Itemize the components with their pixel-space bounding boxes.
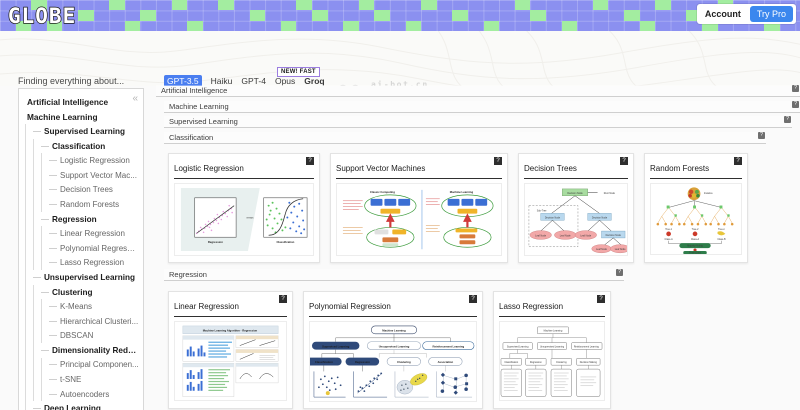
tree-elbow	[49, 321, 57, 322]
sidebar-item-label: Clustering	[52, 288, 93, 297]
svg-text:Tree-1: Tree-1	[665, 228, 672, 231]
sidebar-item-label: Decision Trees	[60, 185, 113, 194]
card-logistic-regression[interactable]: Logistic Regression ?	[168, 153, 320, 263]
svg-text:Decision Making: Decision Making	[580, 362, 598, 364]
sidebar-item-deep-learning[interactable]: Deep Learning	[25, 401, 139, 410]
main-content: Artificial Intelligence ? Machine Learni…	[156, 85, 800, 410]
svg-text:Final-Class: Final-Class	[689, 253, 701, 255]
svg-text:Regression: Regression	[355, 360, 370, 364]
thumb-label-mid: versus	[246, 216, 254, 219]
svg-text:Instance: Instance	[704, 192, 714, 195]
section-title: Regression	[164, 270, 207, 279]
help-icon[interactable]: ?	[758, 132, 765, 139]
svg-text:Classification: Classification	[504, 361, 519, 364]
help-icon[interactable]: ?	[597, 295, 605, 303]
card-title: Decision Trees	[524, 164, 577, 173]
card-polynomial-regression[interactable]: Polynomial Regression ? Machine Learning	[303, 291, 483, 409]
sidebar-item-label: Machine Learning	[27, 112, 98, 122]
tree-guide	[33, 343, 34, 358]
tree-guide	[25, 256, 26, 271]
tree-guide	[33, 314, 34, 329]
tree-elbow	[33, 277, 41, 278]
sidebar-item-label: Artificial Intelligence	[27, 97, 108, 107]
sidebar-item-autoencoders[interactable]: Autoencoders	[25, 387, 139, 402]
tree-guide	[25, 343, 26, 358]
tree-guide	[41, 183, 42, 198]
finding-label: Finding everything about...	[18, 76, 124, 86]
tree-guide	[25, 358, 26, 373]
tree-elbow	[49, 306, 57, 307]
thumb-label-ml: Machine Learning	[450, 190, 474, 194]
svg-text:Leaf Node: Leaf Node	[560, 235, 572, 237]
section-title: Machine Learning	[164, 102, 229, 111]
sidebar-item-label: Supervised Learning	[44, 127, 125, 136]
tree-elbow	[49, 335, 57, 336]
tree-guide	[25, 226, 26, 241]
tree-elbow	[49, 160, 57, 161]
card-title: Linear Regression	[174, 302, 239, 311]
tree-guide	[41, 329, 42, 344]
account-controls: Account Try Pro	[697, 4, 796, 24]
app-logo[interactable]: GLOBE	[8, 4, 76, 28]
polynomial-regression-thumb: Machine Learning Supervised Learning Uns…	[309, 321, 477, 402]
sidebar-item-random-forests[interactable]: Random Forests	[25, 197, 139, 212]
section-title: Supervised Learning	[164, 117, 238, 126]
decision-tree-thumb: Decision Node Root Node Sub-Tree Decisio…	[524, 183, 628, 256]
collapse-sidebar-icon[interactable]: «	[132, 93, 138, 104]
svg-text:Decision Node: Decision Node	[567, 193, 583, 195]
tree-elbow	[49, 394, 57, 395]
tree-elbow	[33, 408, 41, 409]
tree-guide	[33, 153, 34, 168]
svg-text:Decision Node: Decision Node	[545, 217, 561, 219]
sidebar-item-label: Linear Regression	[60, 229, 125, 238]
tree-elbow	[49, 189, 57, 190]
card-title: Support Vector Machines	[336, 164, 425, 173]
tree-guide	[33, 387, 34, 402]
logistic-regression-thumb: Regression versus	[174, 183, 314, 256]
account-button[interactable]: Account	[700, 7, 746, 21]
tree-guide	[41, 168, 42, 183]
thumb-label-left: Regression	[208, 240, 223, 244]
sidebar-item-label: K-Means	[60, 302, 92, 311]
tree-guide	[33, 358, 34, 373]
tree-elbow	[41, 146, 49, 147]
sidebar-item-artificial-intelligence[interactable]: Artificial Intelligence	[25, 95, 139, 110]
section-header-regression[interactable]: Regression ?	[164, 269, 624, 281]
tree-guide	[25, 153, 26, 168]
tree-elbow	[49, 204, 57, 205]
svg-text:Sub-Tree: Sub-Tree	[537, 210, 547, 212]
help-icon[interactable]: ?	[792, 101, 799, 108]
top-banner: GLOBE Account Try Pro	[0, 0, 800, 31]
svg-text:Reinforcement Learning: Reinforcement Learning	[574, 345, 600, 348]
taxonomy-tree: Artificial IntelligenceMachine LearningS…	[19, 89, 143, 410]
sidebar-item-label: t-SNE	[60, 375, 81, 384]
thumb-label-right: Classification	[276, 240, 294, 244]
sidebar-item-machine-learning[interactable]: Machine Learning	[25, 110, 139, 125]
tree-guide	[41, 153, 42, 168]
tree-guide	[25, 197, 26, 212]
tree-guide	[25, 329, 26, 344]
tree-guide	[25, 183, 26, 198]
tree-elbow	[49, 175, 57, 176]
section-title: Classification	[164, 133, 213, 142]
svg-text:Regression: Regression	[530, 362, 543, 364]
sidebar-item-principal-componen[interactable]: Principal Componen...	[25, 358, 139, 373]
sidebar-item-unsupervised-learning[interactable]: Unsupervised Learning	[25, 270, 139, 285]
sidebar-item-clustering[interactable]: Clustering	[25, 285, 139, 300]
tree-guide	[25, 372, 26, 387]
help-icon[interactable]: ?	[616, 269, 623, 276]
card-title: Random Forests	[650, 164, 709, 173]
section-header-supervised-learning[interactable]: Supervised Learning ?	[164, 116, 792, 128]
sidebar-item-lasso-regression[interactable]: Lasso Regression	[25, 256, 139, 271]
card-row-regression: Linear Regression ? Machine Learning Alg…	[156, 285, 800, 409]
tree-guide	[41, 256, 42, 271]
sidebar-item-dimensionality-reducti[interactable]: Dimensionality Reducti...	[25, 343, 139, 358]
svg-text:Association: Association	[438, 360, 454, 364]
linear-regression-thumb: Machine Learning Algorithm - Regression	[174, 321, 287, 402]
svg-text:Supervised Learning: Supervised Learning	[322, 344, 350, 348]
section-header-classification[interactable]: Classification ?	[164, 132, 766, 144]
sidebar-item-dbscan[interactable]: DBSCAN	[25, 329, 139, 344]
card-title: Logistic Regression	[174, 164, 244, 173]
svg-text:Clustering: Clustering	[556, 361, 567, 364]
try-pro-button[interactable]: Try Pro	[750, 6, 793, 22]
card-lasso-regression[interactable]: Lasso Regression ? Machine Learning	[493, 291, 611, 409]
sidebar-item-label: Logistic Regression	[60, 156, 130, 165]
svg-text:Reinforcement Learning: Reinforcement Learning	[433, 344, 465, 348]
card-support-vector-machines[interactable]: Support Vector Machines ? Classic Comput…	[330, 153, 508, 263]
tree-elbow	[49, 248, 57, 249]
banner-green-blocks	[0, 0, 800, 31]
tree-guide	[41, 358, 42, 373]
sidebar-item-logistic-regression[interactable]: Logistic Regression	[25, 153, 139, 168]
svg-text:Clustering: Clustering	[397, 360, 411, 364]
tree-guide	[25, 124, 26, 139]
sidebar-item-label: Unsupervised Learning	[44, 273, 135, 282]
sidebar-item-label: Dimensionality Reducti...	[52, 346, 139, 355]
sidebar-item-hierarchical-clusteri[interactable]: Hierarchical Clusteri...	[25, 314, 139, 329]
tree-guide	[33, 212, 34, 227]
sidebar-item-support-vector-mac[interactable]: Support Vector Mac...	[25, 168, 139, 183]
svg-text:Decision Node: Decision Node	[592, 217, 608, 219]
tree-guide	[25, 299, 26, 314]
tree-guide	[25, 387, 26, 402]
svg-text:Supervised Learning: Supervised Learning	[507, 346, 529, 348]
tree-guide	[41, 197, 42, 212]
random-forest-thumb: Instance	[650, 183, 742, 255]
sidebar-item-label: Regression	[52, 215, 97, 224]
tree-elbow	[41, 219, 49, 220]
help-icon[interactable]: ?	[792, 85, 799, 92]
tree-guide	[41, 241, 42, 256]
card-title: Lasso Regression	[499, 302, 563, 311]
sidebar-item-label: Support Vector Mac...	[60, 171, 137, 180]
tree-elbow	[49, 364, 57, 365]
svg-text:Class-B: Class-B	[717, 239, 726, 241]
svg-text:Class-A: Class-A	[691, 238, 700, 241]
help-icon[interactable]: ?	[494, 157, 502, 165]
svg-text:Machine Learning Algorithm - R: Machine Learning Algorithm - Regression	[203, 328, 258, 332]
tree-guide	[33, 226, 34, 241]
tree-guide	[33, 256, 34, 271]
help-icon[interactable]: ?	[734, 157, 742, 165]
section-title: Artificial Intelligence	[156, 86, 227, 95]
tree-guide	[33, 329, 34, 344]
sidebar-item-label: Classification	[52, 142, 105, 151]
tree-elbow	[33, 131, 41, 132]
svg-text:Leaf Node: Leaf Node	[596, 249, 608, 251]
tree-guide	[25, 401, 26, 410]
tree-guide	[25, 139, 26, 154]
sidebar-item-label: Lasso Regression	[60, 258, 124, 267]
sidebar-item-polynomial-regressi[interactable]: Polynomial Regressi...	[25, 241, 139, 256]
tree-guide	[25, 314, 26, 329]
sidebar-item-linear-regression[interactable]: Linear Regression	[25, 226, 139, 241]
search-zone: Finding everything about... GPT-3.5Haiku…	[0, 31, 800, 86]
sidebar-item-label: DBSCAN	[60, 331, 93, 340]
svg-text:Machine Learning: Machine Learning	[544, 330, 563, 332]
tree-guide	[33, 241, 34, 256]
tree-guide	[33, 168, 34, 183]
tree-guide	[33, 299, 34, 314]
svg-text:Leaf Node: Leaf Node	[615, 249, 627, 251]
tree-elbow	[49, 262, 57, 263]
tree-guide	[41, 314, 42, 329]
section-header-artificial-intelligence[interactable]: Artificial Intelligence ?	[156, 85, 800, 97]
tree-guide	[25, 168, 26, 183]
svg-text:Decision Node: Decision Node	[606, 235, 622, 237]
thumb-label-classic: Classic Computing	[370, 190, 395, 194]
svg-text:Tree-2: Tree-2	[692, 228, 699, 231]
svm-thumb: Classic Computing Machine Learning	[336, 183, 502, 256]
sidebar-item-label: Polynomial Regressi...	[60, 244, 139, 253]
svg-text:Class-A: Class-A	[665, 238, 674, 241]
tree-elbow	[41, 350, 49, 351]
svg-text:Root Node: Root Node	[604, 192, 616, 195]
help-icon[interactable]: ?	[469, 295, 477, 303]
svg-text:Machine Learning: Machine Learning	[382, 328, 406, 332]
sidebar-item-label: Deep Learning	[44, 404, 101, 410]
tree-guide	[33, 285, 34, 300]
sidebar-item-t-sne[interactable]: t-SNE	[25, 372, 139, 387]
tree-guide	[33, 372, 34, 387]
svg-text:Classification: Classification	[315, 360, 333, 364]
card-row-classification: Logistic Regression ?	[156, 147, 800, 263]
card-random-forests[interactable]: Random Forests ? Instance	[644, 153, 748, 263]
tree-guide	[33, 139, 34, 154]
help-icon[interactable]: ?	[306, 157, 314, 165]
sidebar-item-regression[interactable]: Regression	[25, 212, 139, 227]
tree-guide	[25, 241, 26, 256]
help-icon[interactable]: ?	[279, 295, 287, 303]
tree-guide	[41, 226, 42, 241]
tree-guide	[25, 285, 26, 300]
tree-guide	[41, 372, 42, 387]
new-fast-badge: NEW! FAST	[277, 67, 320, 77]
section-header-machine-learning[interactable]: Machine Learning ?	[164, 101, 800, 113]
svg-text:Majority-Voting: Majority-Voting	[687, 245, 703, 248]
sidebar-item-decision-trees[interactable]: Decision Trees	[25, 183, 139, 198]
tree-guide	[33, 183, 34, 198]
tree-guide	[25, 270, 26, 285]
sidebar-item-label: Random Forests	[60, 200, 119, 209]
tree-guide	[41, 299, 42, 314]
card-title: Polynomial Regression	[309, 302, 391, 311]
app-root: GLOBE Account Try Pro Finding everything…	[0, 0, 800, 410]
sidebar-item-label: Hierarchical Clusteri...	[60, 317, 138, 326]
sidebar: « Artificial IntelligenceMachine Learnin…	[18, 88, 144, 410]
svg-text:Unsupervised Learning: Unsupervised Learning	[379, 344, 410, 348]
svg-text:Leaf Node: Leaf Node	[535, 235, 547, 237]
help-icon[interactable]: ?	[784, 116, 791, 123]
svg-text:Leaf Node: Leaf Node	[580, 235, 592, 237]
sidebar-item-label: Autoencoders	[60, 390, 109, 399]
tree-guide	[41, 387, 42, 402]
sidebar-item-k-means[interactable]: K-Means	[25, 299, 139, 314]
tree-elbow	[41, 292, 49, 293]
tree-elbow	[49, 379, 57, 380]
card-decision-trees[interactable]: Decision Trees ? Decision Node Root Node…	[518, 153, 634, 263]
sidebar-item-supervised-learning[interactable]: Supervised Learning	[25, 124, 139, 139]
sidebar-item-classification[interactable]: Classification	[25, 139, 139, 154]
svg-text:Tree-n: Tree-n	[718, 228, 725, 231]
help-icon[interactable]: ?	[620, 157, 628, 165]
lasso-regression-thumb: Machine Learning Supervised Learning Uns…	[499, 321, 605, 401]
card-linear-regression[interactable]: Linear Regression ? Machine Learning Alg…	[168, 291, 293, 409]
tree-elbow	[49, 233, 57, 234]
sidebar-item-label: Principal Componen...	[60, 360, 139, 369]
svg-text:Unsupervised Learning: Unsupervised Learning	[540, 346, 565, 348]
tree-guide	[25, 212, 26, 227]
tree-guide	[33, 197, 34, 212]
